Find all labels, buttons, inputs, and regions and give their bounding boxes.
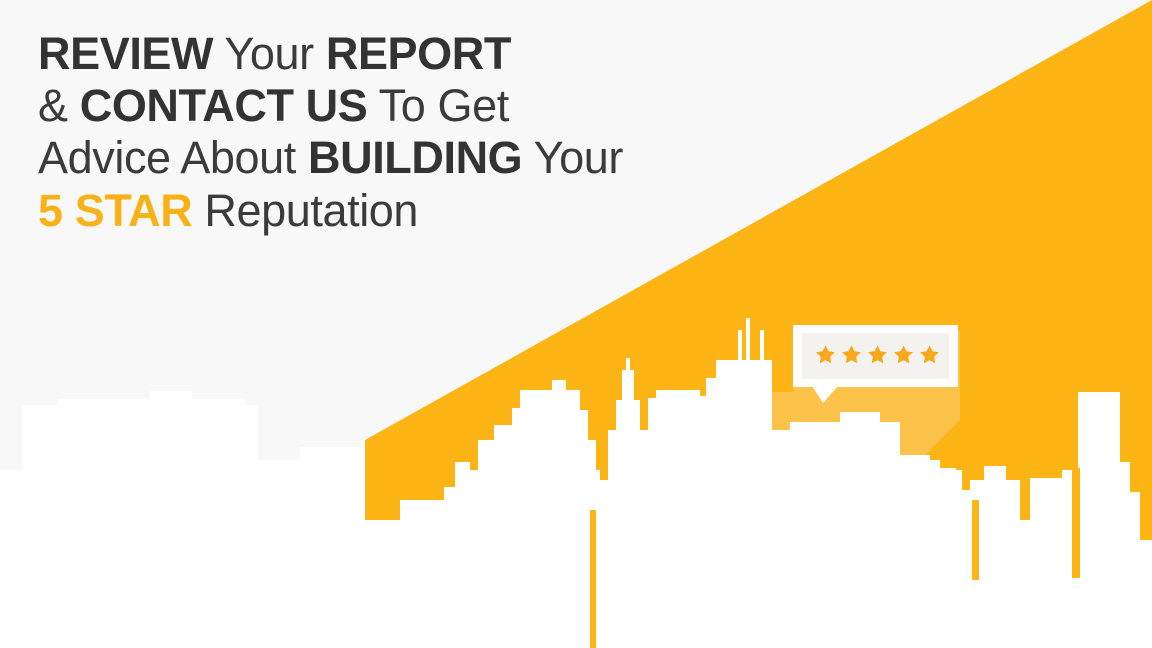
headline-line-4: 5 STAR Reputation <box>38 185 798 237</box>
headline-segment-strong: REVIEW <box>38 28 213 79</box>
headline-segment-strong: REPORT <box>326 28 511 79</box>
headline: REVIEW Your REPORT& CONTACT US To GetAdv… <box>38 28 798 237</box>
headline-segment-light: Advice About <box>38 132 308 183</box>
headline-segment-light: & <box>38 80 80 131</box>
headline-line-2: & CONTACT US To Get <box>38 80 798 132</box>
headline-segment-strong: BUILDING <box>308 132 522 183</box>
headline-line-1: REVIEW Your REPORT <box>38 28 798 80</box>
tower-gap-sliver-2 <box>972 500 979 580</box>
tower-gap-sliver <box>1072 468 1080 578</box>
headline-segment-light: Your <box>522 132 623 183</box>
headline-segment-light: Your <box>213 28 326 79</box>
review-banner: REVIEW Your REPORT& CONTACT US To GetAdv… <box>0 0 1152 648</box>
headline-line-3: Advice About BUILDING Your <box>38 132 798 184</box>
headline-segment-strong: CONTACT US <box>80 80 368 131</box>
headline-segment-light: Reputation <box>192 185 418 236</box>
headline-segment-accent: 5 STAR <box>38 185 192 236</box>
headline-segment-light: To Get <box>367 80 508 131</box>
